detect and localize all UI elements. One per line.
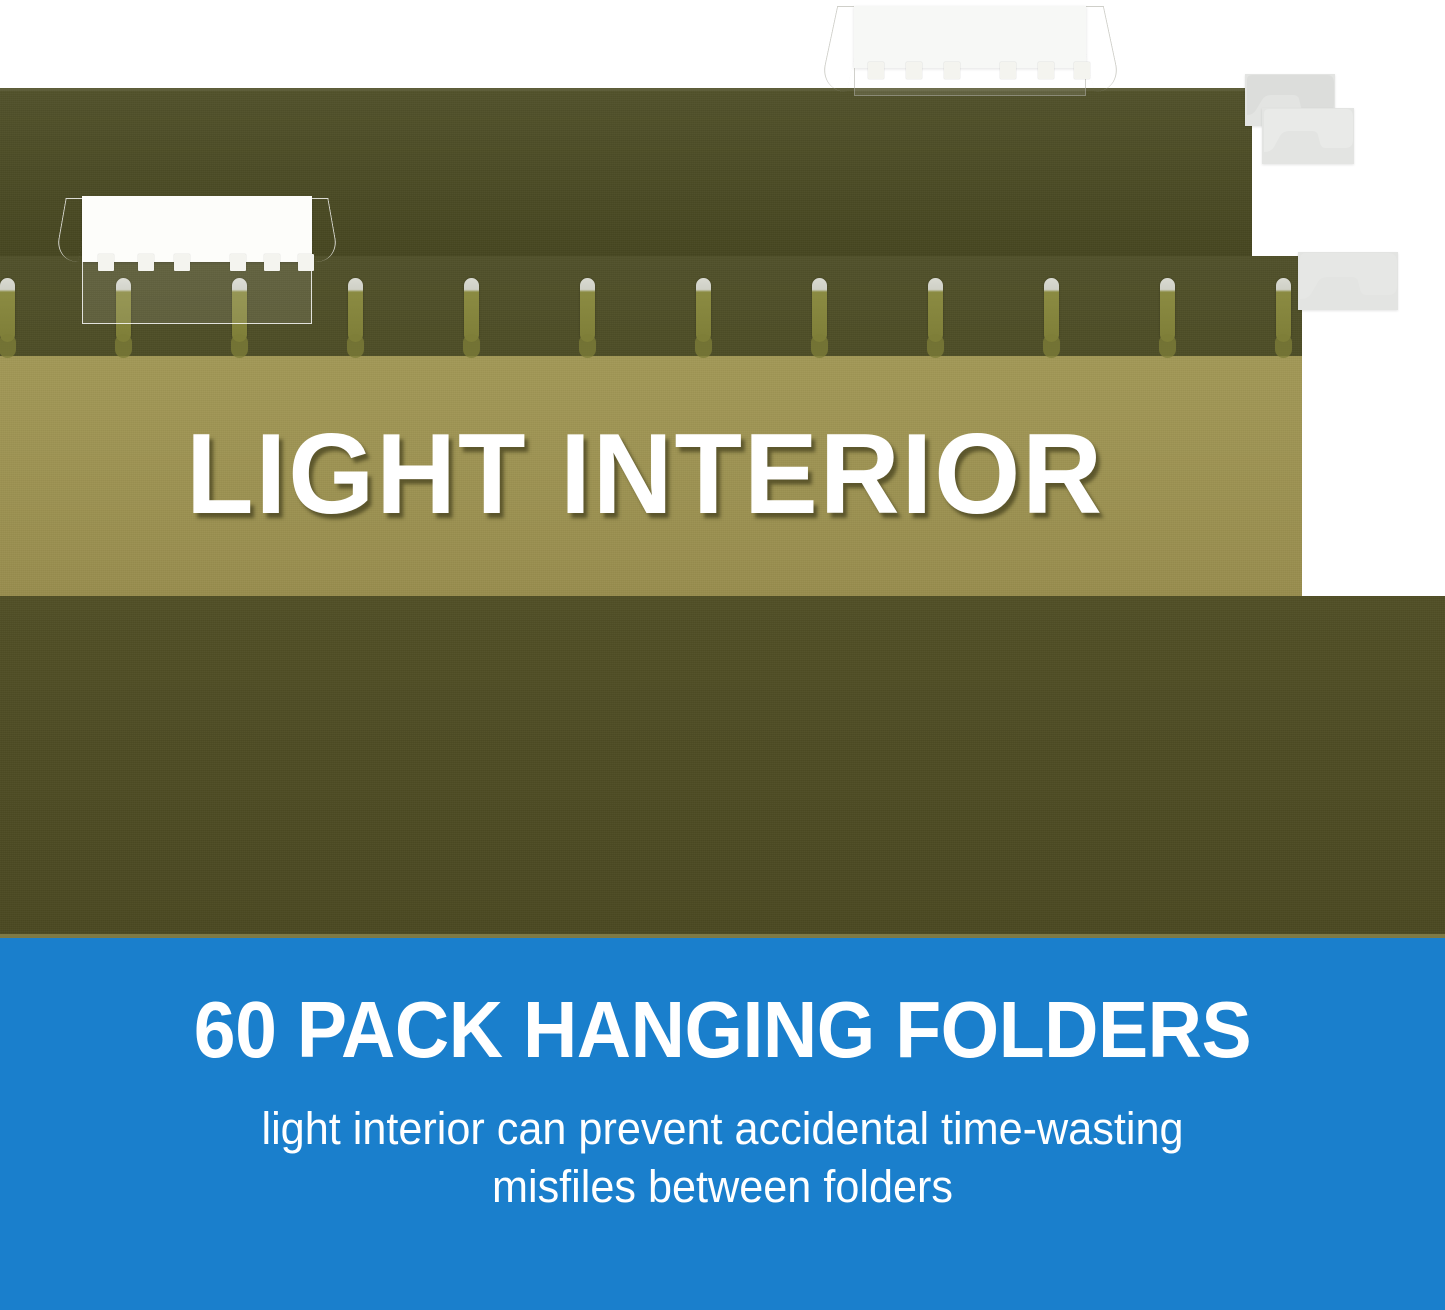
tab-slot-foot bbox=[1275, 334, 1292, 358]
tab-slot-foot bbox=[811, 334, 828, 358]
tab-slot-foot bbox=[1043, 334, 1060, 358]
tab-notch bbox=[138, 254, 154, 271]
tab-slot-foot bbox=[231, 334, 248, 358]
tab-slot bbox=[1276, 278, 1291, 342]
tab-notch bbox=[868, 62, 884, 79]
product-photo: LIGHT INTERIOR bbox=[0, 0, 1445, 938]
tab-notch bbox=[944, 62, 960, 79]
tab-slot bbox=[0, 278, 15, 342]
tab-plastic-frame bbox=[82, 262, 312, 324]
tab-label-card bbox=[82, 196, 312, 262]
tab-slot bbox=[696, 278, 711, 342]
tab-notch bbox=[1074, 62, 1090, 79]
tab-slot-foot bbox=[463, 334, 480, 358]
tab-slot bbox=[580, 278, 595, 342]
tab-slot-foot bbox=[347, 334, 364, 358]
tab-slot bbox=[812, 278, 827, 342]
tab-slot-foot bbox=[579, 334, 596, 358]
tab-notch bbox=[906, 62, 922, 79]
tab-slot bbox=[464, 278, 479, 342]
marketing-banner: 60 PACK HANGING FOLDERS light interior c… bbox=[0, 938, 1445, 1310]
hook-lower-right bbox=[1298, 252, 1398, 310]
tab-slot-foot bbox=[1159, 334, 1176, 358]
tab-slot-foot bbox=[115, 334, 132, 358]
tab-notch bbox=[264, 254, 280, 271]
tab-slot bbox=[928, 278, 943, 342]
upper-left-tab[interactable] bbox=[60, 196, 334, 328]
light-interior-headline: LIGHT INTERIOR bbox=[19, 418, 1270, 532]
tab-notch bbox=[174, 254, 190, 271]
tab-slot-foot bbox=[927, 334, 944, 358]
top-center-tab[interactable] bbox=[828, 4, 1113, 100]
banner-subline-line-2: misfiles between folders bbox=[67, 1158, 1377, 1216]
tab-notch bbox=[230, 254, 246, 271]
paper-grain-texture bbox=[0, 596, 1445, 938]
folder-front-panel bbox=[0, 596, 1445, 938]
tab-notch bbox=[1038, 62, 1054, 79]
hook-upper-right-2 bbox=[1262, 108, 1354, 164]
tab-slot-foot bbox=[695, 334, 712, 358]
tab-notch bbox=[98, 254, 114, 271]
tab-notch bbox=[298, 254, 314, 271]
tab-slot bbox=[1160, 278, 1175, 342]
product-banner-image: LIGHT INTERIOR bbox=[0, 0, 1445, 1310]
banner-headline: 60 PACK HANGING FOLDERS bbox=[43, 990, 1401, 1070]
banner-subline: light interior can prevent accidental ti… bbox=[29, 1100, 1416, 1215]
tab-notch bbox=[1000, 62, 1016, 79]
tab-label-card bbox=[854, 6, 1086, 68]
tab-slot bbox=[1044, 278, 1059, 342]
tab-slot bbox=[348, 278, 363, 342]
banner-subline-line-1: light interior can prevent accidental ti… bbox=[67, 1100, 1377, 1158]
tab-slot-foot bbox=[0, 334, 16, 358]
